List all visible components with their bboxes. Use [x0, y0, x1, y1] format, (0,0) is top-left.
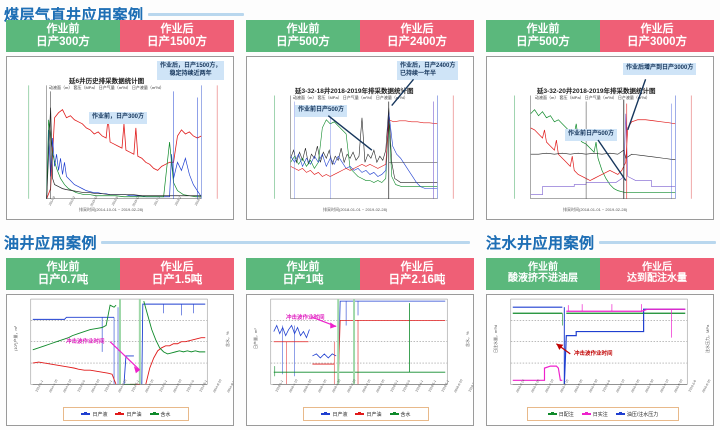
case-1-before: 作业前 日产300方 [6, 20, 120, 52]
case-4-after: 作业后 日产1.5吨 [120, 258, 234, 290]
legend-item-0: 日产液 [321, 411, 347, 418]
case-4-after-l1: 作业后 [161, 262, 194, 274]
case-4-panel: 冲击波作业时间 (10³)产量，m³ 含水，% 日产液 日产油 含水 [6, 294, 234, 426]
case-4-after-l2: 日产1.5吨 [152, 274, 203, 286]
case-3-after: 作业后 日产3000方 [600, 20, 714, 52]
section-title-oilwell: 油井应用案例 [4, 232, 470, 253]
case-1-after-l1: 作业后 [161, 24, 194, 36]
case-2-header: 作业前 日产500方 作业后 日产2400方 [246, 20, 474, 52]
case-4-plot [7, 295, 233, 425]
case-5-chart [247, 295, 473, 425]
legend-item-0: 日配注 [548, 411, 574, 418]
case-2-xaxis-label: 排采时间(2018-01-01 ~ 2019-02-28) [323, 207, 387, 213]
case-3-annotation-before: 作业前日产500方 [565, 129, 617, 141]
legend-item-1: 日产油 [355, 411, 381, 418]
case-4-annotation: 冲击波作业时间 [63, 337, 108, 348]
case-5-after-l1: 作业后 [401, 262, 434, 274]
case-5-before-l2: 日产1吨 [283, 274, 324, 286]
case-4-before-l1: 作业前 [47, 262, 80, 274]
legend-label-1: 日产油 [366, 411, 381, 418]
case-3-before-l1: 作业前 [527, 24, 560, 36]
case-3-annotation-after: 作业后增产到日产3000方 [623, 63, 696, 75]
case-2-before-l1: 作业前 [287, 24, 320, 36]
legend-label-0: 日产液 [332, 411, 347, 418]
legend-item-2: 油压/注水压力 [616, 411, 658, 418]
case-6-annotation: 冲击波作业时间 [571, 349, 616, 360]
case-2-chart-legend: 动液面（m） 套压（MPa） 日产气量（m³/d） 日产液量（m³/d） [293, 95, 408, 101]
x-tick-row: 2018-1-12018-1-102018-1-202018-1-252018-… [273, 384, 449, 388]
case-1-chart-legend: 动液面（m） 套压（MPa） 日产气量（m³/d） 日产液量（m³/d） [49, 85, 164, 91]
case-card-4: 作业前 日产0.7吨 作业后 日产1.5吨 [6, 258, 234, 426]
case-3-before: 作业前 日产500方 [486, 20, 600, 52]
legend-item-0: 日产液 [81, 411, 107, 418]
case-4-header: 作业前 日产0.7吨 作业后 日产1.5吨 [6, 258, 234, 290]
case-6-before-l2: 酸液挤不进油层 [508, 274, 578, 285]
case-4-ylabel-right: 含水，% [225, 331, 231, 347]
case-5-header: 作业前 日产1吨 作业后 日产2.16吨 [246, 258, 474, 290]
legend-label-2: 含水 [161, 411, 171, 418]
section-title-waterinj-label: 注水井应用案例 [486, 232, 595, 253]
legend-item-2: 含水 [150, 411, 171, 418]
case-3-xaxis-label: 排采时间(2018-01-01 ~ 2019-02-28) [563, 207, 627, 213]
case-4-legend: 日产液 日产油 含水 [63, 407, 189, 421]
legend-label-0: 日产液 [92, 411, 107, 418]
section-title-waterinj: 注水井应用案例 [486, 232, 716, 253]
legend-label-0: 日配注 [559, 411, 574, 418]
case-5-before: 作业前 日产1吨 [246, 258, 360, 290]
x-tick-row: 2016-3-142016-3-252016-4-102016-4-152016… [513, 384, 689, 388]
case-5-panel: 冲击波作业时间 日产量，m³ 含水，% 日产液 日产油 含水 [246, 294, 474, 426]
case-2-after: 作业后 日产2400方 [360, 20, 474, 52]
case-4-before-l2: 日产0.7吨 [38, 274, 89, 286]
legend-label-1: 日产油 [126, 411, 141, 418]
case-6-after-l2: 达到配注水量 [627, 274, 687, 285]
case-1-before-l2: 日产300方 [36, 36, 90, 48]
case-2-chart-title: 延3-32-18井2018-2019年排采数据统计图 [295, 85, 414, 95]
case-6-ylabel-right: 注水压力，MPa [705, 325, 711, 353]
case-2-annotation-before: 作业前日产500方 [295, 105, 347, 117]
case-2-panel: 延3-32-18井2018-2019年排采数据统计图 动液面（m） 套压（MPa… [246, 56, 474, 220]
case-1-xaxis-label: 排采时间(2014-10-01 ~ 2019-02-28) [79, 207, 143, 213]
case-3-chart-legend: 动液面（m） 套压（MPa） 日产气量（m³/d） 日产液量（m³/d） [535, 95, 650, 101]
case-1-after-l2: 日产1500方 [147, 36, 207, 48]
case-6-header: 作业前 酸液挤不进油层 作业后 达到配注水量 [486, 258, 714, 290]
case-3-after-l2: 日产3000方 [627, 36, 687, 48]
case-2-plot [247, 57, 473, 219]
case-5-before-l1: 作业前 [287, 262, 320, 274]
slide-root: 煤层气直井应用案例 作业前 日产300方 作业后 日产1500方 [0, 0, 720, 430]
title-rule-3 [599, 241, 716, 244]
case-3-after-l1: 作业后 [641, 24, 674, 36]
legend-label-2: 含水 [401, 411, 411, 418]
case-6-panel: 冲击波作业时间 日注水量，m³/d 注水压力，MPa 日配注 日实注 油压/注水… [486, 294, 714, 426]
case-1-annotation-after: 作业后，日产1500方，稳定持续近两年 [157, 61, 224, 80]
case-5-annotation: 冲击波作业时间 [283, 313, 328, 324]
case-5-after: 作业后 日产2.16吨 [360, 258, 474, 290]
case-1-panel: 延6井历史排采数据统计图 动液面（m） 套压（MPa） 日产气量（m³/d） 日… [6, 56, 234, 220]
legend-label-2: 油压/注水压力 [627, 411, 658, 418]
case-1-xticks: 2014-92015-32015-102016-52016-122017-720… [47, 199, 203, 203]
case-6-plot [487, 295, 713, 425]
case-6-after: 作业后 达到配注水量 [600, 258, 714, 290]
case-2-before: 作业前 日产500方 [246, 20, 360, 52]
case-5-legend: 日产液 日产油 含水 [303, 407, 429, 421]
case-2-chart [247, 57, 473, 219]
case-card-6: 作业前 酸液挤不进油层 作业后 达到配注水量 [486, 258, 714, 426]
case-1-after: 作业后 日产1500方 [120, 20, 234, 52]
case-1-annotation-before: 作业前，日产300方 [89, 112, 147, 124]
case-1-header: 作业前 日产300方 作业后 日产1500方 [6, 20, 234, 52]
title-rule-2 [101, 241, 470, 244]
case-card-1: 作业前 日产300方 作业后 日产1500方 [6, 20, 234, 220]
legend-item-2: 含水 [390, 411, 411, 418]
case-5-plot [247, 295, 473, 425]
legend-item-1: 日产油 [115, 411, 141, 418]
case-card-3: 作业前 日产500方 作业后 日产3000方 [486, 20, 714, 220]
case-5-after-l2: 日产2.16吨 [389, 274, 446, 286]
case-3-panel: 延3-32-20井2018-2019年排采数据统计图 动液面（m） 套压（MPa… [486, 56, 714, 220]
x-tick-row: 2014-1-12014-1-152014-2-102014-3-52014-3… [33, 384, 209, 388]
case-2-before-l2: 日产500方 [276, 36, 330, 48]
case-2-after-l1: 作业后 [401, 24, 434, 36]
case-3-header: 作业前 日产500方 作业后 日产3000方 [486, 20, 714, 52]
case-3-chart-title: 延3-32-20井2018-2019年排采数据统计图 [537, 85, 656, 95]
case-2-after-l2: 日产2400方 [387, 36, 447, 48]
case-5-ylabel-left: 日产量，m³ [253, 328, 259, 349]
case-1-before-l1: 作业前 [47, 24, 80, 36]
case-6-ylabel-left: 日注水量，m³/d [493, 325, 499, 353]
case-4-before: 作业前 日产0.7吨 [6, 258, 120, 290]
case-1-chart-title: 延6井历史排采数据统计图 [69, 75, 144, 85]
title-rule [148, 13, 244, 16]
case-card-2: 作业前 日产500方 作业后 日产2400方 [246, 20, 474, 220]
case-4-chart [7, 295, 233, 425]
case-4-ylabel-left: (10³)产量，m³ [13, 326, 19, 351]
case-6-before: 作业前 酸液挤不进油层 [486, 258, 600, 290]
case-card-5: 作业前 日产1吨 作业后 日产2.16吨 [246, 258, 474, 426]
legend-label-1: 日实注 [593, 411, 608, 418]
section-title-oilwell-label: 油井应用案例 [4, 232, 97, 253]
case-3-before-l2: 日产500方 [516, 36, 570, 48]
case-2-annotation-after: 作业后，日产2400方已持续一年半 [397, 61, 458, 80]
case-6-legend: 日配注 日实注 油压/注水压力 [527, 407, 679, 421]
case-5-ylabel-right: 含水，% [465, 331, 471, 347]
legend-item-1: 日实注 [582, 411, 608, 418]
case-6-chart [487, 295, 713, 425]
